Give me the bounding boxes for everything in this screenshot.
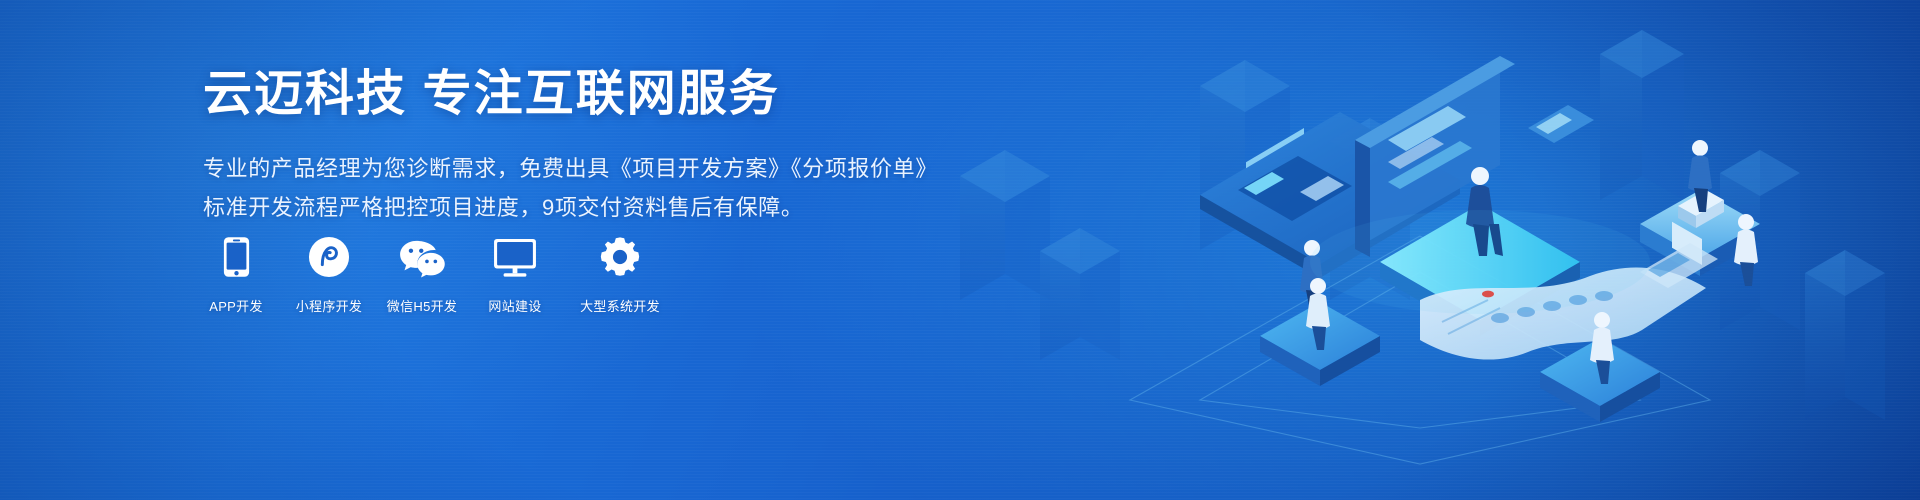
service-label: 微信H5开发 bbox=[387, 296, 457, 315]
subtitle: 专业的产品经理为您诊断需求，免费出具《项目开发方案》《分项报价单》 标准开发流程… bbox=[203, 149, 1103, 227]
service-list: APP开发 小程序开发 微信 bbox=[200, 232, 668, 315]
service-label: 小程序开发 bbox=[296, 296, 363, 315]
service-label: 网站建设 bbox=[488, 296, 541, 315]
subtitle-line-2: 标准开发流程严格把控项目进度，9项交付资料售后有保障。 bbox=[203, 188, 1103, 227]
mobile-phone-icon bbox=[213, 232, 259, 278]
subtitle-line-1: 专业的产品经理为您诊断需求，免费出具《项目开发方案》《分项报价单》 bbox=[203, 149, 1103, 188]
service-label: 大型系统开发 bbox=[580, 296, 660, 315]
service-item-wechat-h5[interactable]: 微信H5开发 bbox=[386, 232, 458, 315]
service-item-mini-program[interactable]: 小程序开发 bbox=[293, 232, 365, 315]
mini-program-icon bbox=[306, 232, 352, 278]
gear-icon bbox=[597, 232, 643, 278]
monitor-icon bbox=[492, 232, 538, 278]
page-title: 云迈科技 专注互联网服务 bbox=[203, 68, 1103, 122]
service-item-app[interactable]: APP开发 bbox=[200, 232, 272, 315]
service-label: APP开发 bbox=[209, 296, 263, 315]
promo-banner: 云迈科技 专注互联网服务 专业的产品经理为您诊断需求，免费出具《项目开发方案》《… bbox=[0, 0, 1920, 500]
wechat-icon bbox=[399, 232, 445, 278]
service-item-website[interactable]: 网站建设 bbox=[479, 232, 551, 315]
service-item-large-system[interactable]: 大型系统开发 bbox=[572, 232, 668, 315]
headline-block: 云迈科技 专注互联网服务 专业的产品经理为您诊断需求，免费出具《项目开发方案》《… bbox=[203, 68, 1103, 227]
